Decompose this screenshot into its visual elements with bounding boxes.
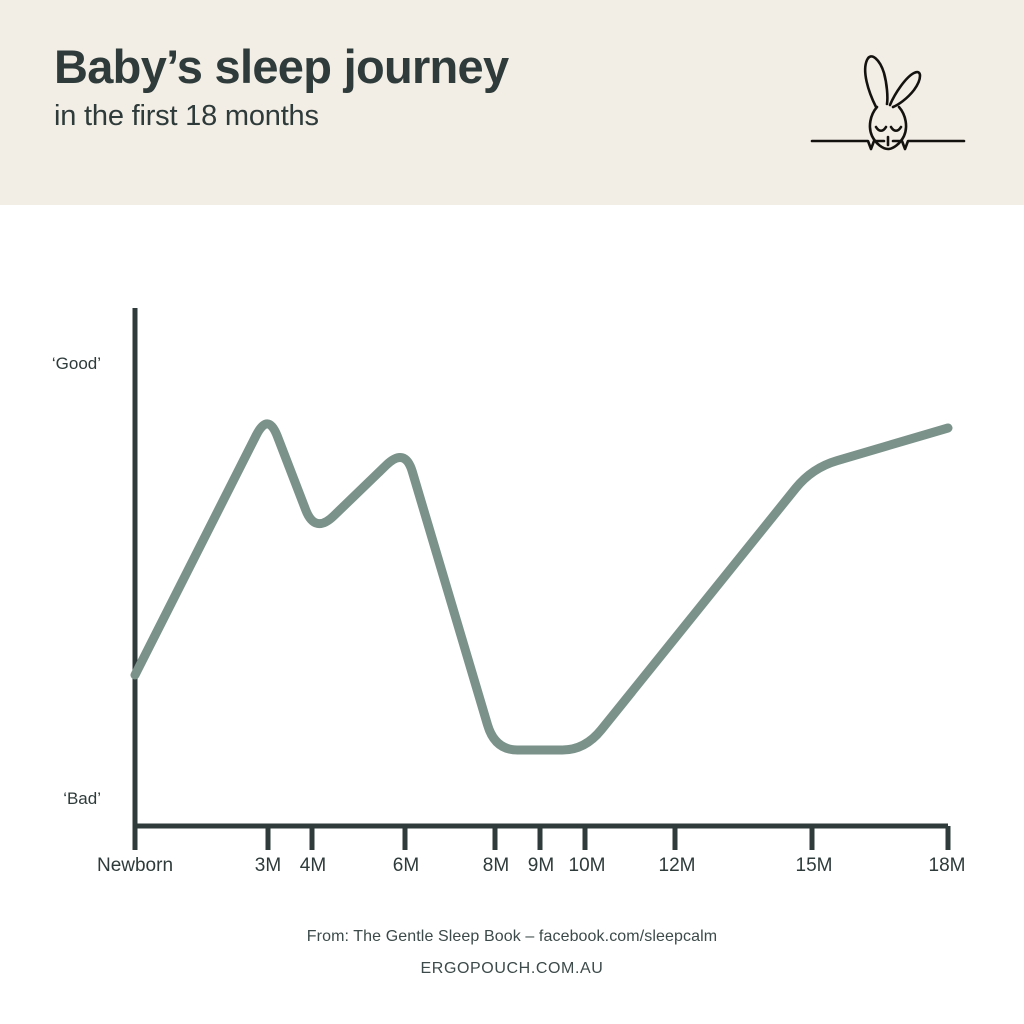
infographic-page: Baby’s sleep journey in the first 18 mon… — [0, 0, 1024, 1024]
tick-label-8m: 8M — [483, 855, 509, 876]
tick-label-6m: 6M — [393, 855, 419, 876]
sleep-quality-line — [135, 424, 948, 750]
sleep-quality-line-chart: ‘Good’ ‘Bad’ Newborn 3M 4M 6M 8M 9M 10M … — [0, 205, 1024, 935]
y-axis-label-good: ‘Good’ — [52, 354, 101, 373]
chart-area: ‘Good’ ‘Bad’ Newborn 3M 4M 6M 8M 9M 10M … — [0, 205, 1024, 935]
page-title: Baby’s sleep journey — [54, 42, 754, 93]
title-block: Baby’s sleep journey in the first 18 mon… — [54, 42, 754, 133]
y-axis-label-bad: ‘Bad’ — [63, 789, 101, 808]
header-band: Baby’s sleep journey in the first 18 mon… — [0, 0, 1024, 205]
footer-website-text: ERGOPOUCH.COM.AU — [0, 960, 1024, 978]
x-axis-tick-marks — [135, 826, 948, 850]
x-axis-tick-labels: Newborn 3M 4M 6M 8M 9M 10M 12M 15M 18M — [97, 855, 966, 876]
tick-label-18m: 18M — [929, 855, 966, 876]
tick-label-9m: 9M — [528, 855, 554, 876]
tick-label-12m: 12M — [659, 855, 696, 876]
tick-label-15m: 15M — [796, 855, 833, 876]
sleeping-bunny-icon — [798, 45, 978, 160]
tick-label-newborn: Newborn — [97, 855, 173, 876]
tick-label-4m: 4M — [300, 855, 326, 876]
tick-label-10m: 10M — [569, 855, 606, 876]
tick-label-3m: 3M — [255, 855, 281, 876]
footer: From: The Gentle Sleep Book – facebook.c… — [0, 928, 1024, 978]
sleeping-bunny-logo — [798, 45, 978, 160]
page-subtitle: in the first 18 months — [54, 100, 754, 133]
footer-source-text: From: The Gentle Sleep Book – facebook.c… — [0, 928, 1024, 946]
